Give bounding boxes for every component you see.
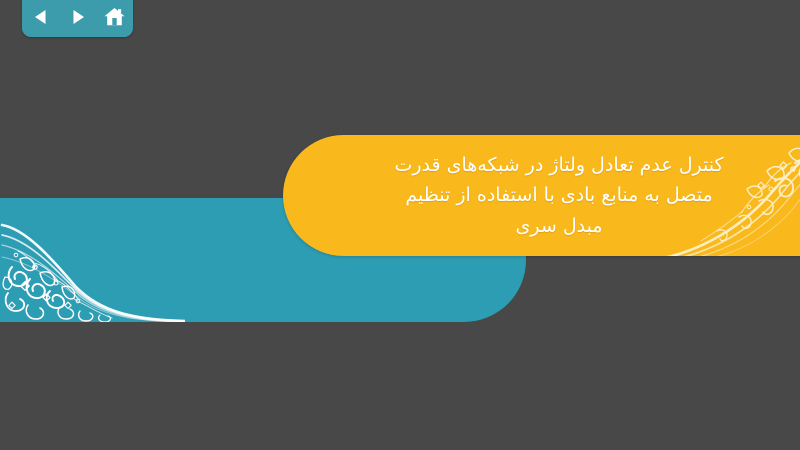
triangle-left-icon: [31, 7, 51, 27]
title-banner: کنترل عدم تعادل ولتاژ در شبکه‌های قدرت م…: [283, 135, 800, 256]
home-button[interactable]: [101, 4, 129, 30]
title-line-2: متصل به منابع بادی با استفاده از تنظیم: [405, 180, 712, 210]
presentation-slide: کنترل عدم تعادل ولتاژ در شبکه‌های قدرت م…: [0, 0, 800, 450]
back-button[interactable]: [27, 4, 55, 30]
home-icon: [103, 6, 126, 28]
slide-title: کنترل عدم تعادل ولتاژ در شبکه‌های قدرت م…: [283, 135, 800, 256]
triangle-right-icon: [68, 7, 88, 27]
forward-button[interactable]: [64, 4, 92, 30]
arabesque-ornament-teal: [0, 207, 185, 322]
navigation-toolbar: [22, 0, 133, 37]
title-line-1: کنترل عدم تعادل ولتاژ در شبکه‌های قدرت: [394, 150, 723, 180]
title-line-3: مبدل سری: [516, 211, 603, 241]
